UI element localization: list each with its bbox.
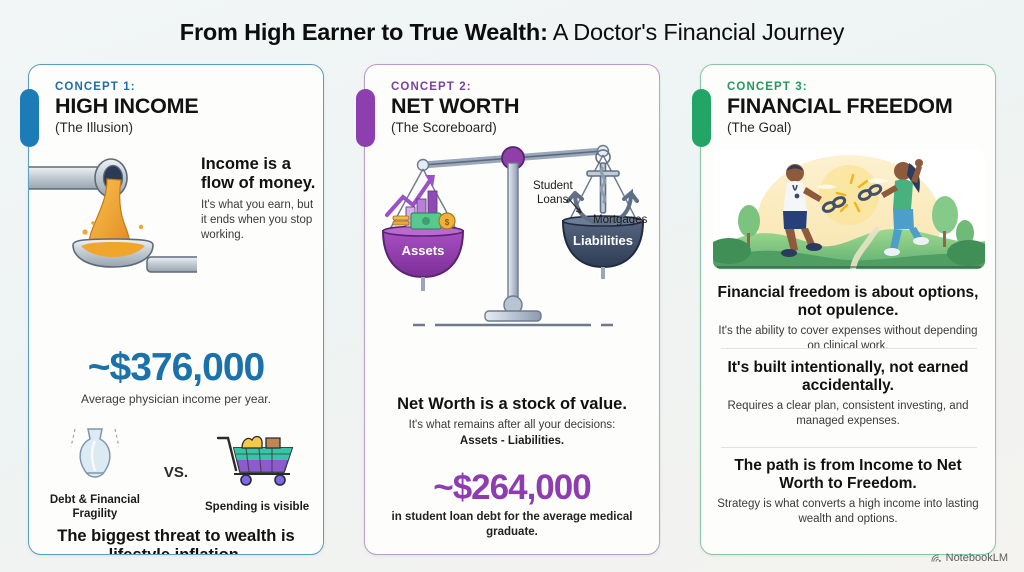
card-3-subtitle: (The Goal) xyxy=(727,120,995,135)
card-3-block-1-sub: It's the ability to cover expenses witho… xyxy=(715,324,981,354)
scale-annotation-1-line1: Student xyxy=(533,180,573,192)
card-2-bottom-block: Doctors start behind due to a delayed ca… xyxy=(365,552,659,554)
page-title-bar: From High Earner to True Wealth: A Docto… xyxy=(0,0,1024,46)
card-3-block-3: The path is from Income to Net Worth to … xyxy=(701,457,995,528)
card-1-comparison: Debt & Financial Fragility VS. xyxy=(29,423,323,521)
page-title-bold: From High Earner to True Wealth: xyxy=(180,19,548,45)
page-title: From High Earner to True Wealth: A Docto… xyxy=(0,19,1024,46)
card-accent-bar-1 xyxy=(20,89,39,147)
card-3-block-2: It's built intentionally, not earned acc… xyxy=(701,359,995,430)
concept-card-high-income[interactable]: CONCEPT 1: HIGH INCOME (The Illusion) xyxy=(28,64,324,555)
card-3-block-1-lead: Financial freedom is about options, not … xyxy=(715,284,981,320)
card-3-block-1: Financial freedom is about options, not … xyxy=(701,284,995,355)
balance-scale-icon: Assets $ xyxy=(365,143,659,373)
card-1-lead-block: Income is a flow of money. It's what you… xyxy=(201,155,321,243)
scale-left-label: Assets xyxy=(402,243,445,258)
people-breaking-chain-icon xyxy=(713,149,985,269)
watermark: NotebookLM xyxy=(931,552,1008,564)
card-3-block-2-lead: It's built intentionally, not earned acc… xyxy=(715,359,981,395)
card-3-title: FINANCIAL FREEDOM xyxy=(727,95,995,118)
card-2-big-number-caption: in student loan debt for the average med… xyxy=(365,510,659,540)
comparison-divider-label: VS. xyxy=(164,464,188,481)
card-3-eyebrow: CONCEPT 3: xyxy=(727,81,995,93)
card-2-subtitle: (The Scoreboard) xyxy=(391,120,659,135)
card-accent-bar-2 xyxy=(356,89,375,147)
concept-card-deck: CONCEPT 1: HIGH INCOME (The Illusion) xyxy=(0,64,1024,562)
scale-annotation-2: Mortgages xyxy=(593,214,648,226)
card-1-lead-sub: It's what you earn, but it ends when you… xyxy=(201,198,321,244)
card-2-lead-sub: It's what remains after all your decisio… xyxy=(375,418,649,433)
card-2-title: NET WORTH xyxy=(391,95,659,118)
notebooklm-logo-icon xyxy=(931,553,942,564)
card-3-divider-2 xyxy=(721,447,977,448)
card-1-bottom-lead: The biggest threat to wealth is lifestyl… xyxy=(43,527,309,554)
card-1-big-number: ~$376,000 xyxy=(29,348,323,387)
concept-card-net-worth[interactable]: CONCEPT 2: NET WORTH (The Scoreboard) xyxy=(364,64,660,555)
card-2-stat-block: ~$264,000 in student loan debt for the a… xyxy=(365,470,659,540)
card-1-eyebrow: CONCEPT 1: xyxy=(55,81,323,93)
card-1-subtitle: (The Illusion) xyxy=(55,120,323,135)
card-1-header: CONCEPT 1: HIGH INCOME (The Illusion) xyxy=(29,65,323,135)
card-3-block-2-sub: Requires a clear plan, consistent invest… xyxy=(715,399,981,429)
concept-card-financial-freedom[interactable]: CONCEPT 3: FINANCIAL FREEDOM (The Goal) xyxy=(700,64,996,555)
comparison-right: Spending is visible xyxy=(202,430,312,515)
card-3-block-3-sub: Strategy is what converts a high income … xyxy=(715,497,981,527)
card-2-lead-sub-bold: Assets - Liabilities. xyxy=(375,434,649,449)
card-1-bottom-block: The biggest threat to wealth is lifestyl… xyxy=(29,527,323,554)
card-accent-bar-3 xyxy=(692,89,711,147)
card-3-divider-1 xyxy=(721,348,977,349)
page-title-normal: A Doctor's Financial Journey xyxy=(548,19,845,45)
card-1-title: HIGH INCOME xyxy=(55,95,323,118)
shopping-cart-icon xyxy=(214,430,300,492)
card-1-big-number-caption: Average physician income per year. xyxy=(29,392,323,408)
card-2-header: CONCEPT 2: NET WORTH (The Scoreboard) xyxy=(365,65,659,135)
card-3-header: CONCEPT 3: FINANCIAL FREEDOM (The Goal) xyxy=(701,65,995,135)
card-2-big-number: ~$264,000 xyxy=(365,470,659,505)
card-2-lead: Net Worth is a stock of value. xyxy=(375,395,649,414)
card-2-eyebrow: CONCEPT 2: xyxy=(391,81,659,93)
comparison-left: Debt & Financial Fragility xyxy=(40,423,150,522)
card-2-lead-block: Net Worth is a stock of value. It's what… xyxy=(365,395,659,450)
svg-text:$: $ xyxy=(445,218,450,227)
card-1-lead: Income is a flow of money. xyxy=(201,155,321,194)
scale-annotation-1-line2: Loans xyxy=(537,194,569,206)
card-1-stat-block: ~$376,000 Average physician income per y… xyxy=(29,348,323,408)
comparison-right-label: Spending is visible xyxy=(202,501,312,515)
watermark-label: NotebookLM xyxy=(946,552,1008,564)
pipe-pouring-money-funnel-icon xyxy=(29,153,197,273)
scale-right-label: Liabilities xyxy=(573,233,633,248)
card-3-block-3-lead: The path is from Income to Net Worth to … xyxy=(715,457,981,493)
cracked-vase-icon xyxy=(55,423,135,485)
comparison-left-label: Debt & Financial Fragility xyxy=(40,494,150,522)
